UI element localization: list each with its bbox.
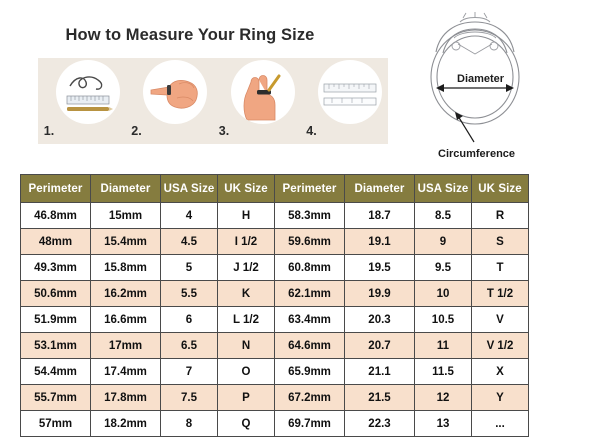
cell-perimeter-left: 50.6mm xyxy=(21,281,91,307)
cell-diameter-left: 15.8mm xyxy=(91,255,161,281)
cell-uk-size-left: K xyxy=(218,281,275,307)
column-header-uk-size-left: UK Size xyxy=(218,175,275,203)
cell-usa-size-left: 7.5 xyxy=(161,385,218,411)
cell-diameter-right: 19.9 xyxy=(345,281,415,307)
cell-diameter-right: 21.5 xyxy=(345,385,415,411)
cell-perimeter-left: 48mm xyxy=(21,229,91,255)
column-header-usa-size-left: USA Size xyxy=(161,175,218,203)
cell-usa-size-right: 10.5 xyxy=(415,307,472,333)
cell-diameter-left: 17.8mm xyxy=(91,385,161,411)
table-row: 48mm 15.4mm 4.5 I 1/2 59.6mm 19.1 9 S xyxy=(21,229,529,255)
column-header-perimeter-left: Perimeter xyxy=(21,175,91,203)
cell-usa-size-left: 6.5 xyxy=(161,333,218,359)
cell-diameter-right: 19.5 xyxy=(345,255,415,281)
table-row: 46.8mm 15mm 4 H 58.3mm 18.7 8.5 R xyxy=(21,203,529,229)
step-number: 1. xyxy=(44,124,54,138)
table-row: 57mm 18.2mm 8 Q 69.7mm 22.3 13 ... xyxy=(21,411,529,437)
column-header-diameter-left: Diameter xyxy=(91,175,161,203)
table-row: 49.3mm 15.8mm 5 J 1/2 60.8mm 19.5 9.5 T xyxy=(21,255,529,281)
step-3: 3. xyxy=(217,58,297,144)
cell-usa-size-right: 10 xyxy=(415,281,472,307)
cell-diameter-left: 17mm xyxy=(91,333,161,359)
cell-usa-size-left: 7 xyxy=(161,359,218,385)
cell-uk-size-right: X xyxy=(472,359,529,385)
column-header-perimeter-right: Perimeter xyxy=(275,175,345,203)
cell-uk-size-left: H xyxy=(218,203,275,229)
step-4: 4. xyxy=(304,58,384,144)
cell-uk-size-right: Y xyxy=(472,385,529,411)
cell-perimeter-left: 54.4mm xyxy=(21,359,91,385)
cell-diameter-right: 18.7 xyxy=(345,203,415,229)
cell-diameter-left: 15mm xyxy=(91,203,161,229)
cell-perimeter-right: 60.8mm xyxy=(275,255,345,281)
step-number: 3. xyxy=(219,124,229,138)
cell-perimeter-left: 49.3mm xyxy=(21,255,91,281)
cell-diameter-right: 19.1 xyxy=(345,229,415,255)
cell-usa-size-left: 5 xyxy=(161,255,218,281)
cell-usa-size-right: 11 xyxy=(415,333,472,359)
ring-cross-section-icon xyxy=(396,8,596,168)
pointing-hand-with-ring-icon xyxy=(143,60,207,124)
diameter-label: Diameter xyxy=(457,73,504,85)
cell-uk-size-left: L 1/2 xyxy=(218,307,275,333)
column-header-usa-size-right: USA Size xyxy=(415,175,472,203)
cell-diameter-left: 15.4mm xyxy=(91,229,161,255)
cell-uk-size-left: Q xyxy=(218,411,275,437)
cell-uk-size-right: V xyxy=(472,307,529,333)
cell-usa-size-right: 11.5 xyxy=(415,359,472,385)
cell-usa-size-left: 4.5 xyxy=(161,229,218,255)
column-header-diameter-right: Diameter xyxy=(345,175,415,203)
cell-usa-size-left: 8 xyxy=(161,411,218,437)
cell-usa-size-right: 8.5 xyxy=(415,203,472,229)
hand-wrapping-string-icon xyxy=(231,60,295,124)
page-title: How to Measure Your Ring Size xyxy=(0,26,380,45)
ruler-measuring-icon xyxy=(318,60,382,124)
table-row: 54.4mm 17.4mm 7 O 65.9mm 21.1 11.5 X xyxy=(21,359,529,385)
cell-perimeter-right: 58.3mm xyxy=(275,203,345,229)
cell-diameter-left: 16.2mm xyxy=(91,281,161,307)
table-row: 55.7mm 17.8mm 7.5 P 67.2mm 21.5 12 Y xyxy=(21,385,529,411)
step-number: 2. xyxy=(131,124,141,138)
cell-uk-size-left: I 1/2 xyxy=(218,229,275,255)
string-ruler-pencil-icon xyxy=(56,60,120,124)
cell-usa-size-right: 9.5 xyxy=(415,255,472,281)
table-row: 53.1mm 17mm 6.5 N 64.6mm 20.7 11 V 1/2 xyxy=(21,333,529,359)
cell-usa-size-right: 9 xyxy=(415,229,472,255)
cell-diameter-right: 20.7 xyxy=(345,333,415,359)
ring-diagram: Diameter Circumference xyxy=(396,8,596,168)
cell-diameter-left: 16.6mm xyxy=(91,307,161,333)
ring-size-table: Perimeter Diameter USA Size UK Size Peri… xyxy=(20,174,529,437)
cell-perimeter-left: 53.1mm xyxy=(21,333,91,359)
cell-uk-size-right: ... xyxy=(472,411,529,437)
cell-usa-size-left: 4 xyxy=(161,203,218,229)
cell-usa-size-left: 6 xyxy=(161,307,218,333)
cell-usa-size-right: 12 xyxy=(415,385,472,411)
cell-usa-size-right: 13 xyxy=(415,411,472,437)
cell-uk-size-left: J 1/2 xyxy=(218,255,275,281)
cell-perimeter-right: 63.4mm xyxy=(275,307,345,333)
cell-uk-size-left: O xyxy=(218,359,275,385)
step-2: 2. xyxy=(129,58,209,144)
cell-perimeter-left: 51.9mm xyxy=(21,307,91,333)
cell-uk-size-left: N xyxy=(218,333,275,359)
cell-diameter-right: 20.3 xyxy=(345,307,415,333)
cell-uk-size-right: V 1/2 xyxy=(472,333,529,359)
cell-diameter-right: 21.1 xyxy=(345,359,415,385)
cell-diameter-right: 22.3 xyxy=(345,411,415,437)
cell-perimeter-right: 59.6mm xyxy=(275,229,345,255)
table-row: 51.9mm 16.6mm 6 L 1/2 63.4mm 20.3 10.5 V xyxy=(21,307,529,333)
cell-perimeter-right: 69.7mm xyxy=(275,411,345,437)
cell-perimeter-right: 62.1mm xyxy=(275,281,345,307)
cell-uk-size-right: T xyxy=(472,255,529,281)
step-1: 1. xyxy=(42,58,122,144)
column-header-uk-size-right: UK Size xyxy=(472,175,529,203)
cell-perimeter-right: 67.2mm xyxy=(275,385,345,411)
cell-uk-size-right: R xyxy=(472,203,529,229)
cell-perimeter-left: 57mm xyxy=(21,411,91,437)
measure-steps-panel: 1. 2. 3. xyxy=(38,58,388,144)
cell-perimeter-right: 65.9mm xyxy=(275,359,345,385)
cell-perimeter-left: 46.8mm xyxy=(21,203,91,229)
step-number: 4. xyxy=(306,124,316,138)
cell-diameter-left: 18.2mm xyxy=(91,411,161,437)
table-header-row: Perimeter Diameter USA Size UK Size Peri… xyxy=(21,175,529,203)
circumference-label: Circumference xyxy=(438,148,515,160)
table-row: 50.6mm 16.2mm 5.5 K 62.1mm 19.9 10 T 1/2 xyxy=(21,281,529,307)
cell-uk-size-left: P xyxy=(218,385,275,411)
cell-uk-size-right: T 1/2 xyxy=(472,281,529,307)
cell-perimeter-left: 55.7mm xyxy=(21,385,91,411)
cell-usa-size-left: 5.5 xyxy=(161,281,218,307)
cell-uk-size-right: S xyxy=(472,229,529,255)
cell-diameter-left: 17.4mm xyxy=(91,359,161,385)
cell-perimeter-right: 64.6mm xyxy=(275,333,345,359)
